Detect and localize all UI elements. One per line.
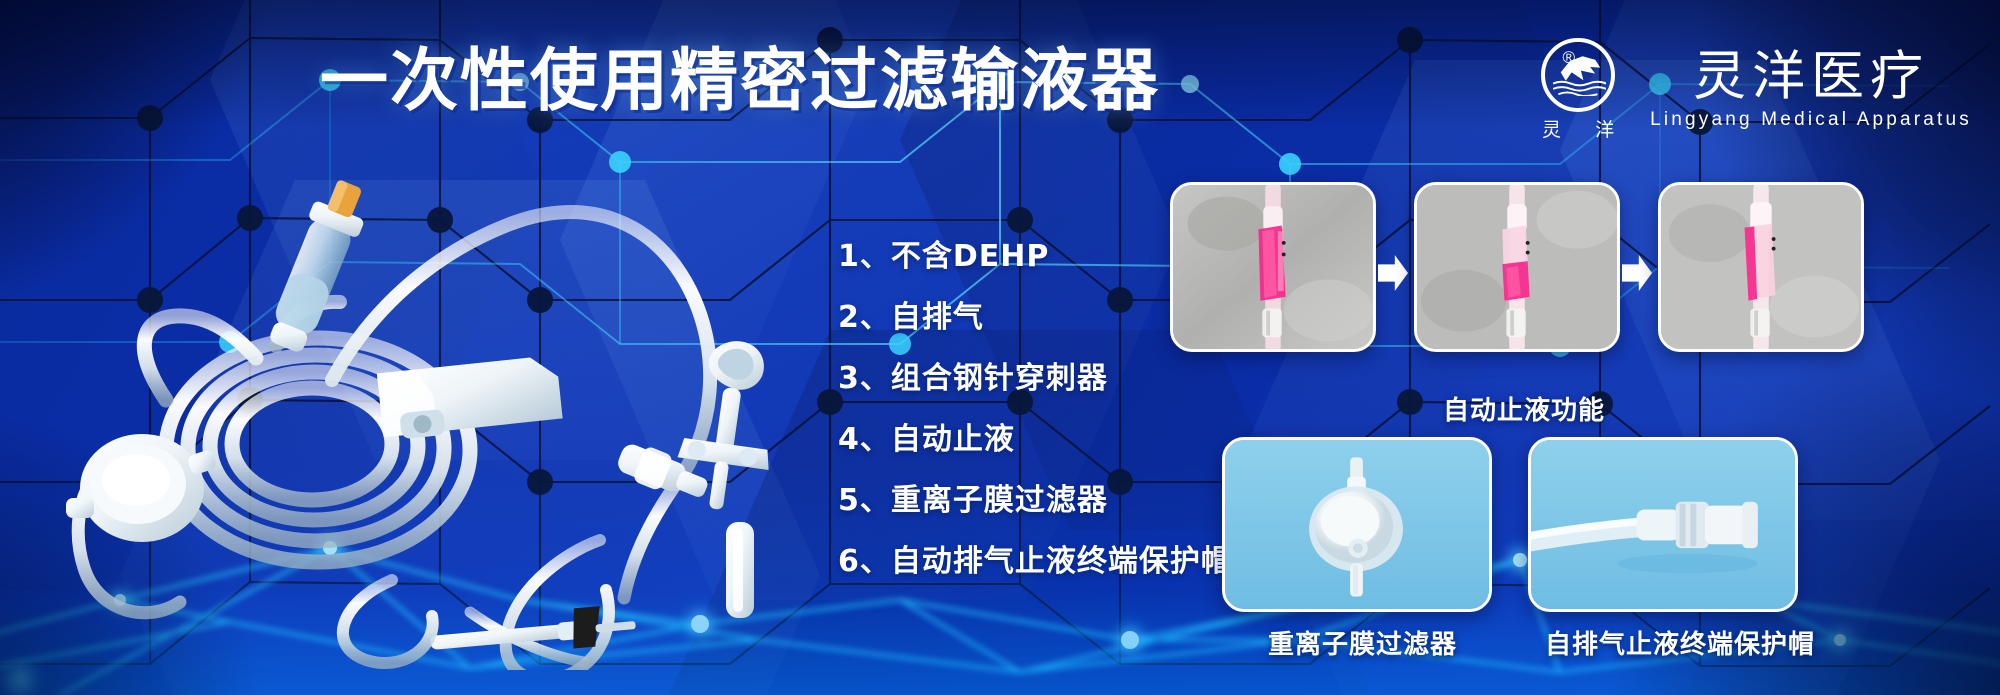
promo-banner: 一次性使用精密过滤输液器 灵 洋 灵洋医疗 Lingyang Medical A… [0,0,2000,695]
logo-circle-icon [1541,38,1615,112]
page-title: 一次性使用精密过滤输液器 [320,48,1160,116]
sequence-photo-1 [1170,182,1376,352]
logo-mark-text: 灵 洋 [1528,115,1628,142]
logo-mark: 灵 洋 [1528,38,1628,142]
brand-name-cn: 灵洋医疗 [1693,49,1929,105]
registered-trademark-icon: ® [1562,48,1575,68]
logo-waves-icon [1553,80,1606,96]
feature-item-5: 5、重离子膜过滤器 [838,466,1232,527]
feature-item-6: 6、自动排气止液终端保护帽 [838,527,1232,588]
feature-item-3: 3、组合钢针穿刺器 [838,344,1232,405]
brand-name-block: 灵洋医疗 Lingyang Medical Apparatus [1650,49,1972,132]
caption-end-cap: 自排气止液终端保护帽 [1545,624,1815,661]
caption-filter: 重离子膜过滤器 [1268,624,1457,661]
brand-name-en: Lingyang Medical Apparatus [1650,109,1972,131]
sequence-photo-2 [1414,182,1620,352]
brand-logo: 灵 洋 灵洋医疗 Lingyang Medical Apparatus [1528,38,1972,142]
product-photo-filter [1222,437,1492,612]
product-photo-end-cap [1528,437,1798,612]
feature-item-4: 4、自动止液 [838,405,1232,466]
sequence-photo-3 [1658,182,1864,352]
caption-auto-stop: 自动止液功能 [1443,390,1605,427]
product-image [40,150,800,670]
